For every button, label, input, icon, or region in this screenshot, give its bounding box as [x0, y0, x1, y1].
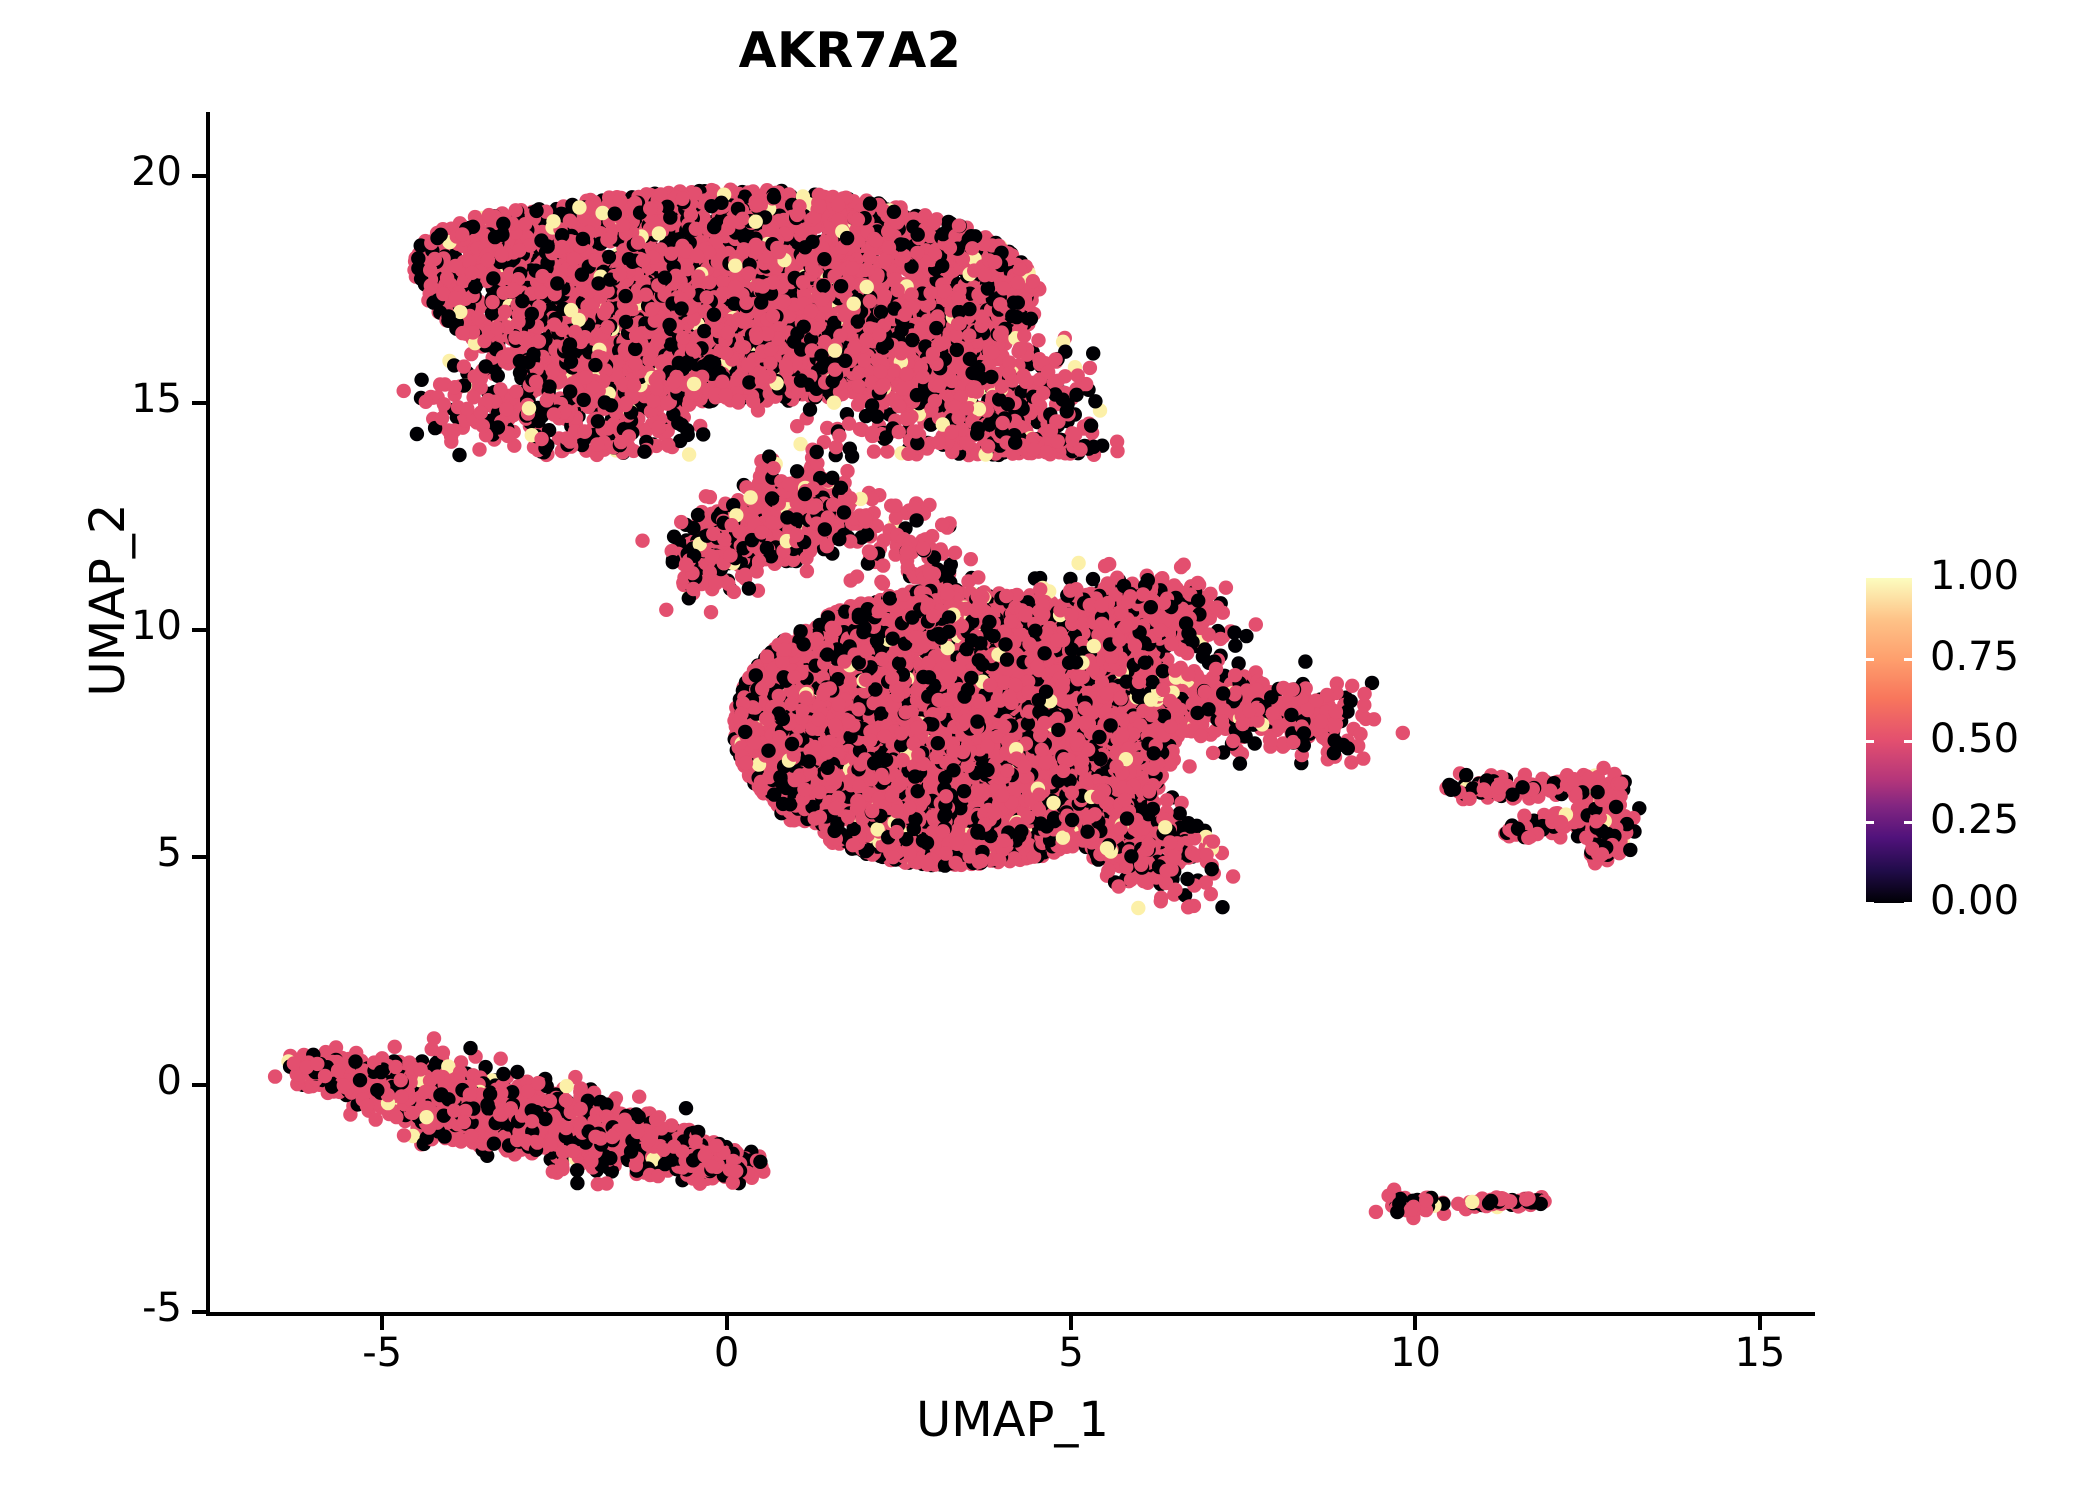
- colorbar-tick-mark: [1866, 821, 1912, 824]
- x-axis-label: UMAP_1: [210, 1392, 1815, 1448]
- y-tick-mark: [192, 401, 206, 405]
- y-tick-mark: [192, 628, 206, 632]
- y-tick-label: 5: [62, 830, 182, 876]
- y-tick-mark: [192, 1310, 206, 1314]
- x-tick-label: -5: [312, 1330, 452, 1376]
- colorbar[interactable]: 1.000.750.500.250.00: [1866, 578, 2086, 903]
- colorbar-tick-mark: [1866, 658, 1912, 661]
- y-tick-label: -5: [62, 1285, 182, 1331]
- scatter-points-layer: [210, 112, 1815, 1312]
- y-tick-mark: [192, 174, 206, 178]
- colorbar-tick-label: 0.00: [1930, 878, 2019, 924]
- colorbar-tick-mark: [1866, 902, 1912, 905]
- x-tick-label: 0: [657, 1330, 797, 1376]
- x-tick-label: 5: [1001, 1330, 1141, 1376]
- colorbar-tick-label: 1.00: [1930, 553, 2019, 599]
- colorbar-tick-label: 0.75: [1930, 634, 2019, 680]
- y-tick-label: 20: [62, 149, 182, 195]
- x-tick-mark: [725, 1316, 729, 1330]
- y-tick-label: 0: [62, 1058, 182, 1104]
- x-tick-mark: [1758, 1316, 1762, 1330]
- figure-canvas: AKR7A2 -505101520 -5051015 UMAP_2 UMAP_1…: [0, 0, 2100, 1500]
- y-tick-mark: [192, 855, 206, 859]
- x-tick-mark: [1413, 1316, 1417, 1330]
- x-tick-mark: [380, 1316, 384, 1330]
- colorbar-tick-label: 0.25: [1930, 797, 2019, 843]
- x-tick-mark: [1069, 1316, 1073, 1330]
- y-tick-mark: [192, 1083, 206, 1087]
- x-tick-label: 15: [1690, 1330, 1830, 1376]
- colorbar-tick-label: 0.50: [1930, 716, 2019, 762]
- y-axis-label: UMAP_2: [80, 390, 136, 810]
- x-tick-label: 10: [1345, 1330, 1485, 1376]
- page-title: AKR7A2: [0, 22, 1700, 79]
- colorbar-tick-mark: [1866, 740, 1912, 743]
